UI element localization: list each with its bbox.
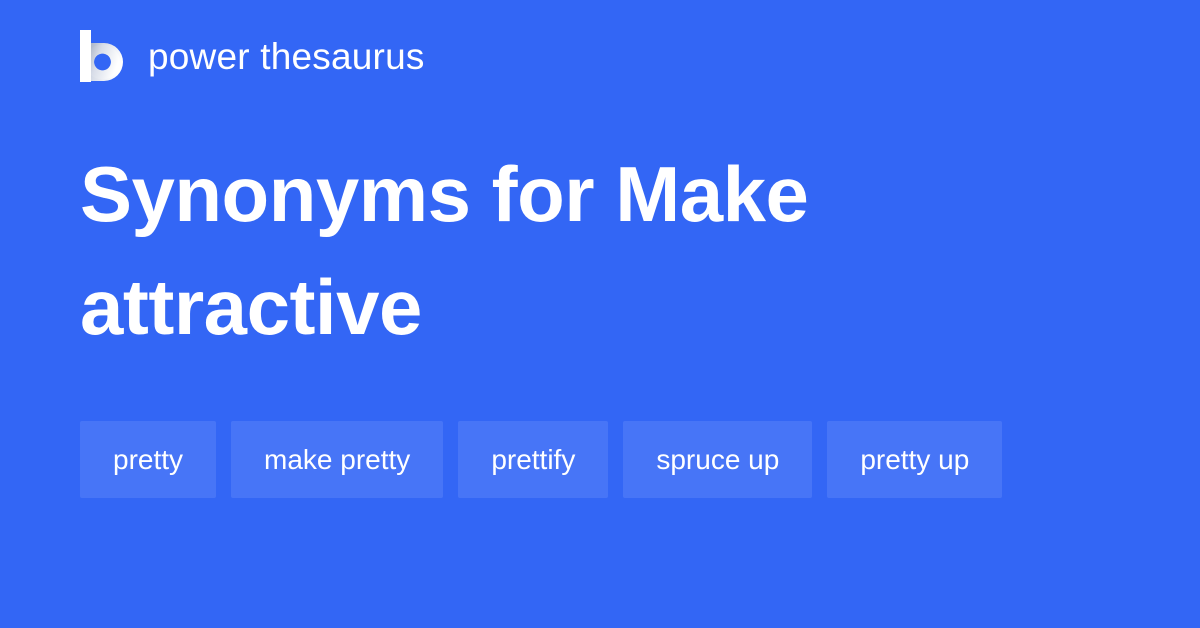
brand-name: power thesaurus <box>148 38 425 75</box>
power-thesaurus-b-logo-icon <box>80 30 126 82</box>
page-title: Synonyms for Make attractive <box>80 138 1130 364</box>
brand-header[interactable]: power thesaurus <box>80 28 425 84</box>
synonym-tag[interactable]: prettify <box>458 421 608 498</box>
share-card: power thesaurus Synonyms for Make attrac… <box>0 0 1200 628</box>
synonym-tag[interactable]: spruce up <box>623 421 812 498</box>
synonym-tag-list: pretty make pretty prettify spruce up pr… <box>80 421 1130 498</box>
synonym-tag[interactable]: make pretty <box>231 421 443 498</box>
synonym-tag[interactable]: pretty <box>80 421 216 498</box>
synonym-tag[interactable]: pretty up <box>827 421 1002 498</box>
